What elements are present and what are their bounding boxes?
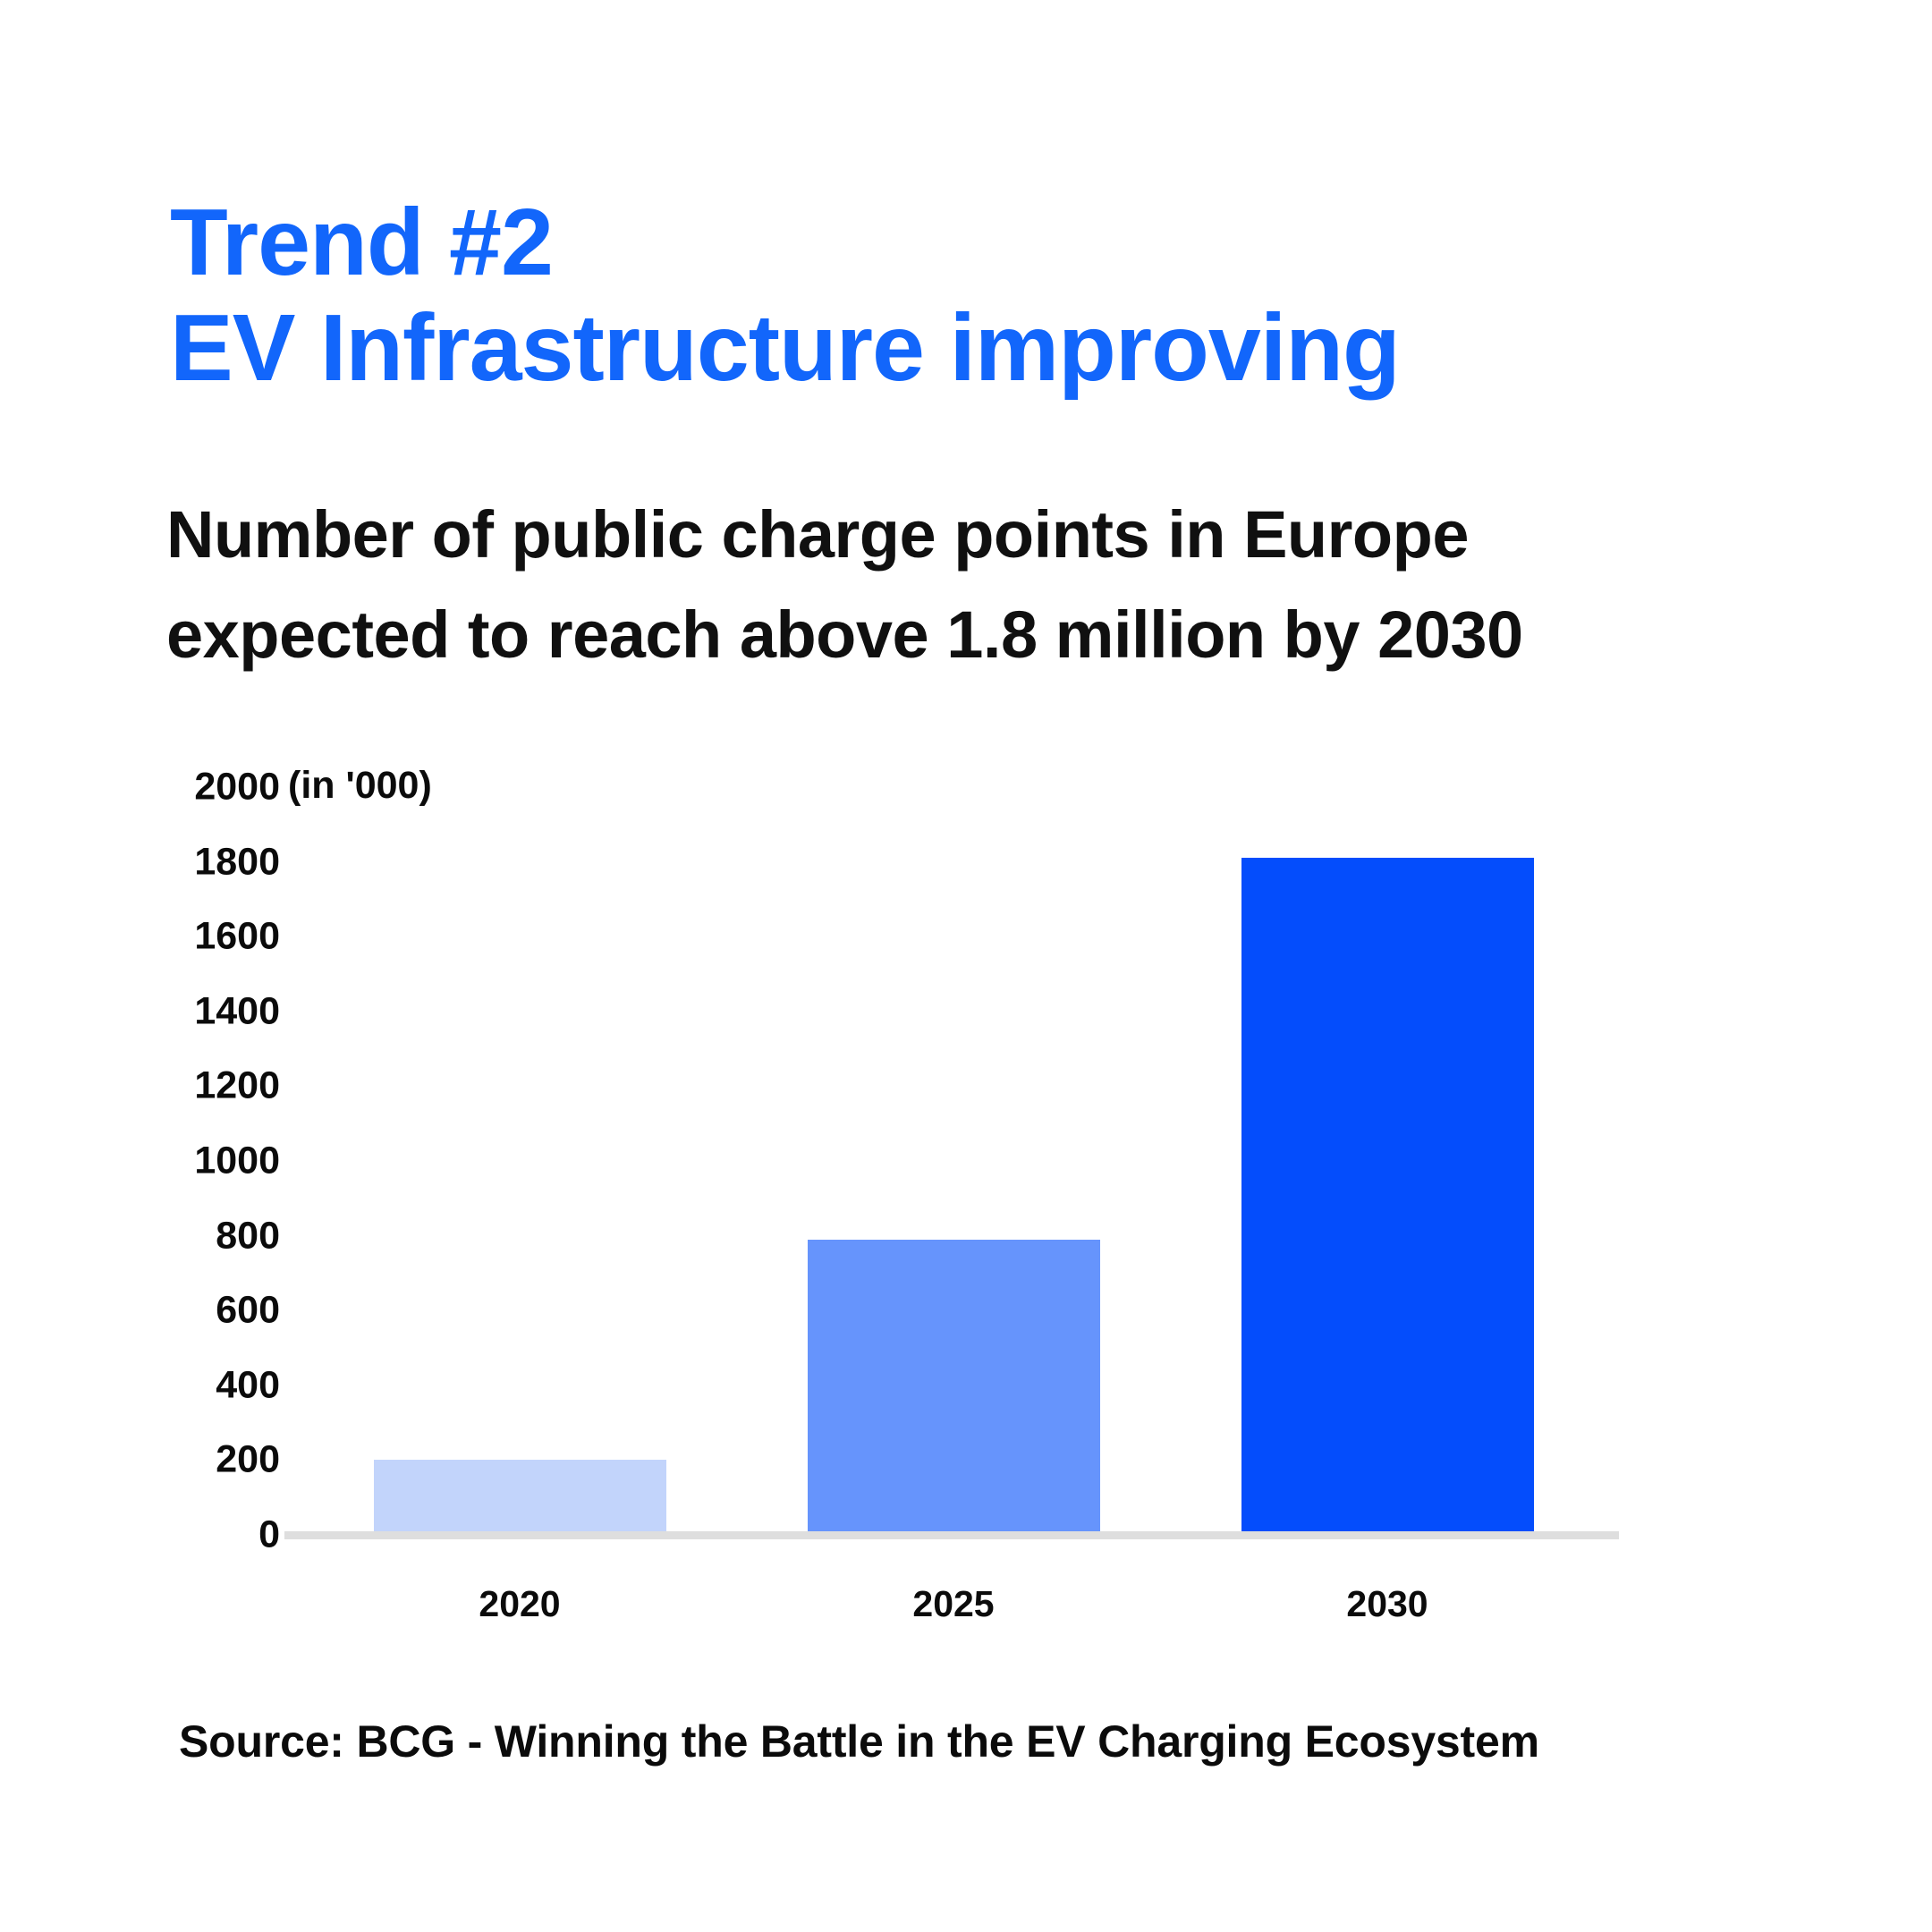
- y-axis-tick-label: 1800: [174, 840, 280, 884]
- y-axis-tick-label: 1000: [174, 1140, 280, 1183]
- x-axis-tick-label: 2020: [479, 1583, 560, 1625]
- y-axis-tick-label: 2000: [174, 766, 280, 809]
- x-axis: 202020252030: [284, 1583, 1619, 1646]
- bar-2025[interactable]: [808, 1240, 1100, 1535]
- x-axis-tick-label: 2025: [912, 1583, 994, 1625]
- plot-area: [284, 787, 1619, 1535]
- y-axis-tick-label: 1400: [174, 989, 280, 1033]
- bar-2030[interactable]: [1241, 858, 1534, 1535]
- y-axis-tick-label: 600: [174, 1289, 280, 1333]
- y-axis: 0200400600800100012001400160018002000: [174, 787, 280, 1535]
- bar-2020[interactable]: [374, 1460, 666, 1535]
- y-axis-tick-label: 400: [174, 1363, 280, 1407]
- x-axis-baseline: [284, 1531, 1619, 1539]
- y-axis-tick-label: 1200: [174, 1064, 280, 1108]
- bar-chart: (in '000) 020040060080010001200140016001…: [0, 0, 1932, 1932]
- y-axis-tick-label: 200: [174, 1438, 280, 1482]
- slide-canvas: Trend #2 EV Infrastructure improving Num…: [0, 0, 1932, 1932]
- x-axis-tick-label: 2030: [1346, 1583, 1428, 1625]
- source-note: Source: BCG - Winning the Battle in the …: [179, 1716, 1539, 1767]
- y-axis-tick-label: 800: [174, 1214, 280, 1258]
- y-axis-tick-label: 1600: [174, 915, 280, 959]
- y-axis-tick-label: 0: [174, 1513, 280, 1557]
